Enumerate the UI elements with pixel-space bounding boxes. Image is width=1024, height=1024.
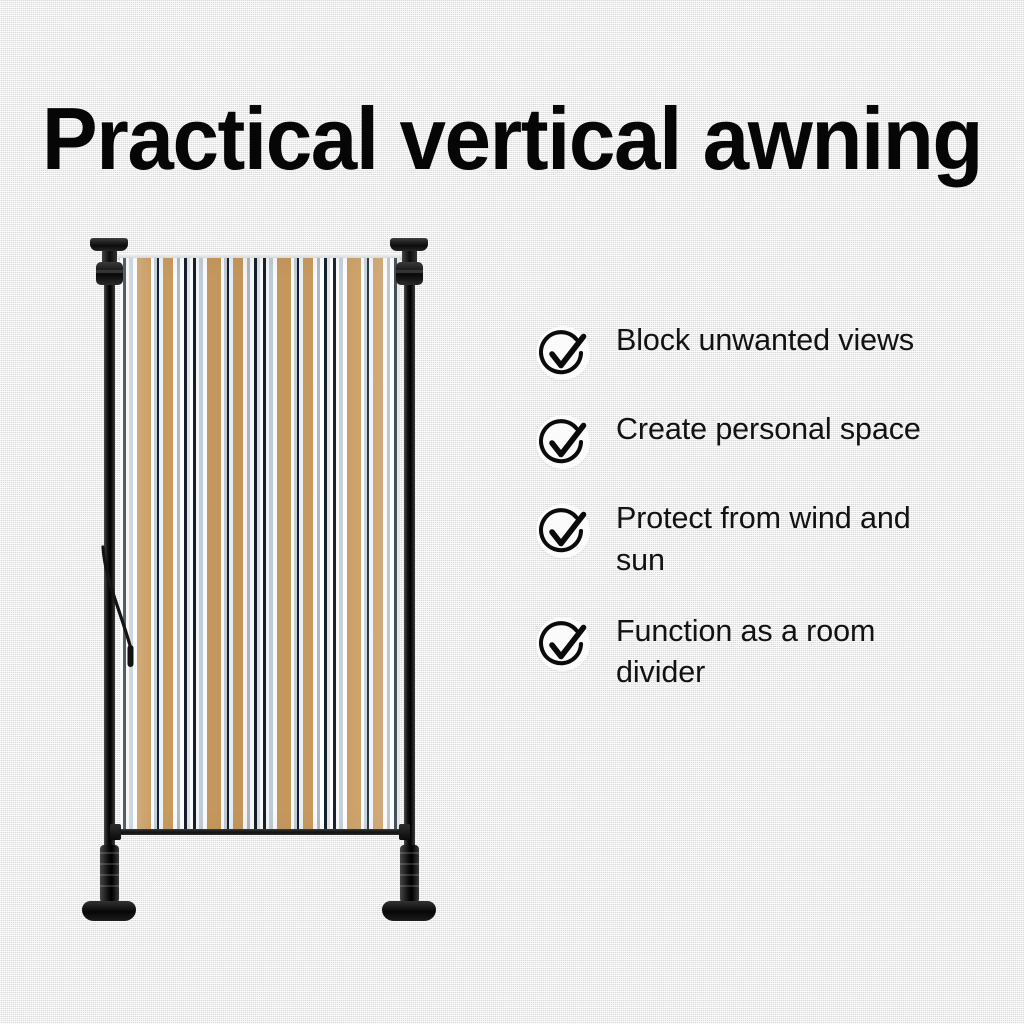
check-circle-icon — [536, 504, 590, 558]
awning-fabric — [120, 258, 400, 832]
check-circle-icon — [536, 326, 590, 380]
check-circle-icon — [536, 415, 590, 469]
floor-foot-right — [382, 901, 436, 921]
operating-cord — [100, 545, 140, 675]
feature-label: Block unwanted views — [616, 320, 914, 362]
product-illustration — [0, 0, 520, 1024]
feature-item: Protect from wind and sun — [536, 498, 976, 582]
feature-label: Function as a room divider — [616, 611, 966, 695]
floor-foot-left — [82, 901, 136, 921]
sleeve-ridge-right — [400, 885, 419, 887]
feature-item: Create personal space — [536, 409, 976, 469]
feature-list: Block unwanted views Create personal spa… — [536, 320, 976, 694]
bottom-weight-bar — [116, 829, 404, 835]
weight-bar-end-cap-left — [110, 824, 121, 840]
collar-notch-left — [96, 270, 123, 273]
fabric-sheen — [120, 258, 400, 832]
sleeve-ridge-left — [100, 852, 119, 854]
weight-bar-end-cap-right — [399, 824, 410, 840]
sleeve-ridge-right — [400, 852, 419, 854]
feature-label: Protect from wind and sun — [616, 498, 966, 582]
product-marketing-image: Practical vertical awning — [0, 0, 1024, 1024]
bracket-collar-right — [396, 262, 423, 285]
bracket-collar-left — [96, 262, 123, 285]
sleeve-ridge-right — [400, 874, 419, 876]
feature-label: Create personal space — [616, 409, 921, 451]
ceiling-cap-left — [90, 238, 128, 251]
ceiling-cap-right — [390, 238, 428, 251]
sleeve-ridge-left — [100, 885, 119, 887]
sleeve-ridge-right — [400, 863, 419, 865]
collar-notch-right — [396, 270, 423, 273]
sleeve-ridge-left — [100, 863, 119, 865]
sleeve-ridge-left — [100, 874, 119, 876]
feature-item: Function as a room divider — [536, 611, 976, 695]
feature-item: Block unwanted views — [536, 320, 976, 380]
check-circle-icon — [536, 617, 590, 671]
tension-pole-right — [404, 252, 415, 900]
